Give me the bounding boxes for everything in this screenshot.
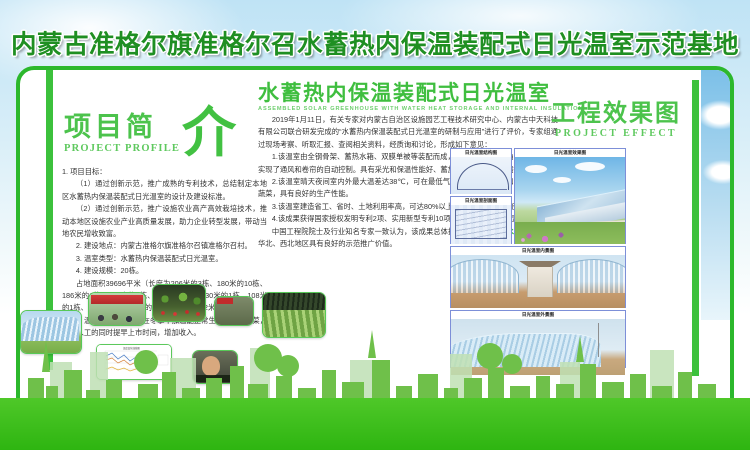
photo-temperature-chart: 温度变化曲线图 [96, 344, 172, 380]
chart-thumbnail: 温度变化曲线图 [97, 345, 171, 379]
left-para-2: （2）通过创新示范，推广设施农业高产高效栽培技术，推动本地区设施农业产业高质量发… [62, 203, 267, 240]
mid-para-4: 4.该成果获得国家授权发明专利2项、实用新型专利10项，在蓄热方面有明显创新。 [258, 213, 558, 225]
photo-site-visit [214, 296, 254, 326]
arch-shape [451, 259, 519, 293]
line-chart-svg: 温度变化曲线图 [97, 345, 170, 378]
panel-greenhouse-exterior: 日光温室外景图 [450, 310, 626, 368]
sky-photo-strip [701, 70, 734, 320]
photo-greenhouse-exterior [20, 310, 82, 354]
flowerbed-shape [515, 222, 625, 244]
cloud-shape [575, 162, 605, 171]
section-drawing-image [451, 205, 511, 244]
panel-greenhouse-section: 日光温室剖面图 [450, 196, 512, 244]
tunnel-greenhouse-shape [451, 333, 601, 367]
poster-title: 内蒙古准格尔旗准格尔召水蓄热内保温装配式日光温室示范基地 [0, 22, 750, 62]
middle-heading-cn: 水蓄热内保温装配式日光温室 [258, 82, 558, 105]
left-heading-en: PROJECT PROFILE [64, 143, 180, 154]
utility-pole-shape [598, 323, 599, 357]
panel-caption-structure: 日光温室结构图 [451, 149, 511, 157]
mid-para-2: 2.该温室晴天夜间室内外最大温差达38℃，可在最低气温-30℃的地区不加温生产果… [258, 176, 558, 201]
photo-interview-portrait [192, 350, 238, 384]
footer-band: 建设单位：内蒙古中天科技有限公司 咨询电话：0471-5211278 18947… [0, 398, 750, 450]
left-para-5: 4. 建设规模：20栋。 [62, 265, 267, 277]
interior-photo-image [451, 255, 625, 308]
entrance-gate-shape [527, 267, 553, 297]
mid-conclusion-prefix: 中国工程院院士及行业知名专家一致认为，该成果总体技术达到 [272, 227, 477, 236]
right-heading-cn: 工程效果图 [536, 102, 696, 126]
render-photo-image [515, 157, 625, 244]
cloud-shape [525, 165, 547, 173]
cloud-shape [553, 177, 571, 183]
panel-greenhouse-render: 日光温室效果图 [514, 148, 626, 244]
arch-shape [557, 259, 625, 293]
panel-caption-section: 日光温室剖面图 [451, 197, 511, 205]
left-para-4: 3. 温室类型：水蓄热内保温装配式日光温室。 [62, 253, 267, 265]
panel-caption-exterior: 日光温室外景图 [451, 311, 625, 319]
right-section-heading: 工程效果图 PROJECT EFFECT [536, 102, 696, 139]
panel-caption-render: 日光温室效果图 [515, 149, 625, 157]
svg-text:温度变化曲线图: 温度变化曲线图 [123, 346, 140, 350]
content-frame: 项目简 PROJECT PROFILE 介 1. 项目目标： （1）通过创新示范… [16, 66, 734, 434]
mid-para-0: 2019年1月11日，有关专家对内蒙古自治区设施园艺工程技术研究中心、内蒙古中天… [258, 114, 558, 151]
left-para-3: 2. 建设地点：内蒙古准格尔旗准格尔召镇准格尔召村。 [62, 240, 267, 252]
panel-greenhouse-structure: 日光温室结构图 [450, 148, 512, 194]
mid-para-1: 1.该温室由全钢骨架、蓄热水箱、双膜单被等装配而成，结构轻便，采光角度科学合理，… [258, 151, 558, 176]
middle-heading-en: ASSEMBLED SOLAR GREENHOUSE WITH WATER HE… [258, 106, 558, 112]
mid-para-3: 3.该温室建造省工、省时、土地利用率高，可达80%以上，具有良好的推广应用价值。 [258, 201, 558, 213]
left-heading-cn: 项目简 [64, 114, 180, 141]
left-section-heading: 项目简 PROJECT PROFILE 介 [64, 114, 180, 154]
right-heading-en: PROJECT EFFECT [536, 128, 696, 139]
exterior-photo-image [451, 319, 625, 375]
structure-drawing-image [451, 157, 511, 194]
photo-crop-rows [262, 292, 326, 338]
photo-visitors-group [88, 292, 146, 326]
panel-caption-interior: 日光温室内景图 [451, 247, 625, 255]
middle-body-text: 2019年1月11日，有关专家对内蒙古自治区设施园艺工程技术研究中心、内蒙古中天… [258, 114, 558, 250]
poster-canvas: 内蒙古准格尔旗准格尔召水蓄热内保温装配式日光温室示范基地 项目简 PROJECT… [0, 0, 750, 450]
left-para-1: （1）通过创新示范，推广成熟的专利技术，总结制定本地区水蓄热内保温装配式日光温室… [62, 178, 267, 203]
middle-section-heading: 水蓄热内保温装配式日光温室 ASSEMBLED SOLAR GREENHOUSE… [258, 82, 558, 112]
left-para-0: 1. 项目目标： [62, 166, 267, 178]
photo-strawberry-crop [152, 284, 206, 322]
left-heading-cn-accent: 介 [182, 106, 236, 160]
panel-greenhouse-interior: 日光温室内景图 [450, 246, 626, 308]
poster-title-text: 内蒙古准格尔旗准格尔召水蓄热内保温装配式日光温室示范基地 [11, 24, 739, 61]
